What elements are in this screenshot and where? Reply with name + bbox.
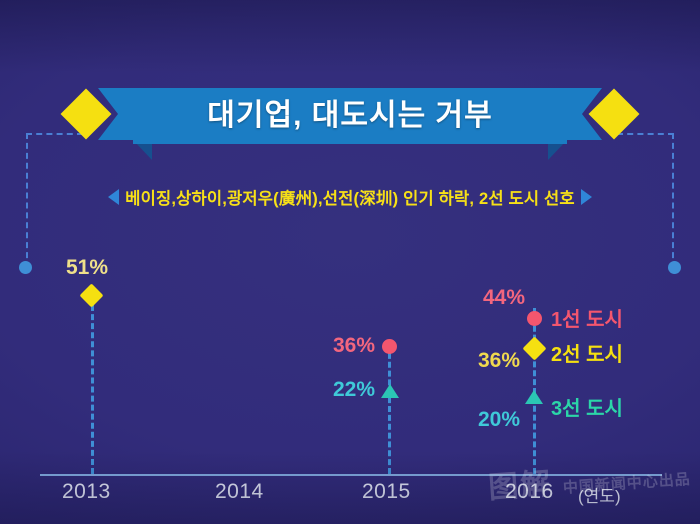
- x-tick-2016: 2016: [505, 480, 554, 504]
- x-axis-line: [40, 474, 662, 476]
- marker-diamond-2016: [522, 336, 546, 360]
- x-axis-unit: (연도): [578, 482, 621, 507]
- value-label-2015-tier1: 36%: [333, 334, 375, 358]
- value-label-2013-tier2: 51%: [66, 256, 108, 280]
- marker-triangle-2015: [381, 384, 399, 398]
- marker-triangle-2016: [525, 390, 543, 404]
- value-label-2016-tier2: 36%: [478, 349, 520, 373]
- subtitle-text: 베이징,상하이,광저우(廣州),선전(深圳) 인기 하락, 2선 도시 선호: [125, 185, 575, 209]
- value-label-2015-tier3: 22%: [333, 378, 375, 402]
- triangle-left-icon: [108, 189, 119, 205]
- chart-area: 51% 36% 22% 44% 1선 도시 36% 2선 도시 20% 3선 도…: [0, 0, 700, 524]
- value-label-2016-tier3: 20%: [478, 408, 520, 432]
- infographic-canvas: 대기업, 대도시는 거부 베이징,상하이,광저우(廣州),선전(深圳) 인기 하…: [0, 0, 700, 524]
- connector-2013: [91, 296, 94, 474]
- legend-item-tier2: 2선 도시: [551, 338, 623, 367]
- x-tick-2015: 2015: [362, 480, 411, 504]
- x-tick-2014: 2014: [215, 480, 264, 504]
- triangle-right-icon: [581, 189, 592, 205]
- legend-item-tier3: 3선 도시: [551, 392, 623, 421]
- subtitle-row: 베이징,상하이,광저우(廣州),선전(深圳) 인기 하락, 2선 도시 선호: [0, 185, 700, 209]
- value-label-2016-tier1: 44%: [483, 286, 525, 310]
- marker-circle-2016: [527, 311, 542, 326]
- marker-circle-2015: [382, 339, 397, 354]
- marker-diamond-2013: [79, 283, 103, 307]
- legend-item-tier1: 1선 도시: [551, 303, 623, 332]
- connector-2015: [388, 344, 391, 474]
- page-title: 대기업, 대도시는 거부: [0, 90, 700, 134]
- x-tick-2013: 2013: [62, 480, 111, 504]
